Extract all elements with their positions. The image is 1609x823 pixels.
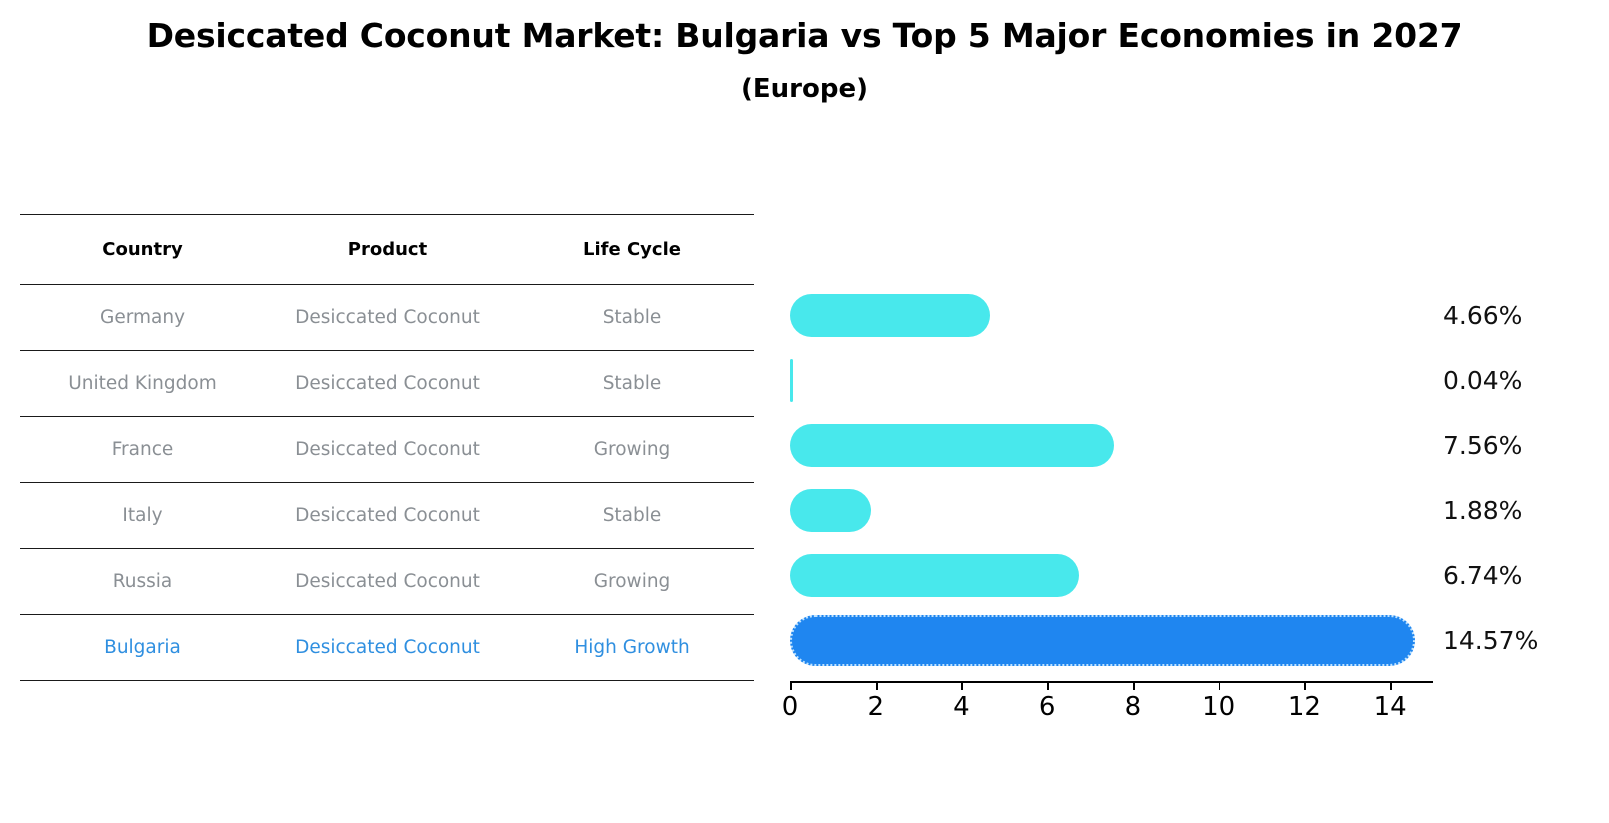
table-row: United Kingdom Desiccated Coconut Stable <box>20 351 754 417</box>
x-tick-label: 10 <box>1202 692 1235 722</box>
bar[interactable] <box>790 489 871 532</box>
column-header-life-cycle: Life Cycle <box>510 215 754 285</box>
table-row: France Desiccated Coconut Growing <box>20 417 754 483</box>
x-tick-mark <box>790 681 792 690</box>
column-header-product: Product <box>265 215 510 285</box>
bar-value-label: 6.74% <box>1443 561 1522 590</box>
x-tick-mark <box>1219 681 1221 690</box>
cell-country: Germany <box>20 285 265 351</box>
x-tick-mark <box>961 681 963 690</box>
cell-country: Italy <box>20 483 265 549</box>
page-subtitle: (Europe) <box>0 66 1609 112</box>
x-tick-mark <box>876 681 878 690</box>
bar[interactable] <box>790 359 793 402</box>
country-table-panel: Country Product Life Cycle Germany Desic… <box>20 214 754 681</box>
bar-value-label: 1.88% <box>1443 496 1522 525</box>
cell-product: Desiccated Coconut <box>265 483 510 549</box>
cell-life-cycle: Stable <box>510 483 754 549</box>
cell-product: Desiccated Coconut <box>265 615 510 681</box>
x-axis-line <box>790 681 1433 683</box>
table-row: Russia Desiccated Coconut Growing <box>20 549 754 615</box>
cell-product: Desiccated Coconut <box>265 351 510 417</box>
bar[interactable] <box>790 424 1114 467</box>
cell-country: Russia <box>20 549 265 615</box>
x-tick-label: 2 <box>867 692 884 722</box>
bar[interactable] <box>790 294 990 337</box>
cell-country: United Kingdom <box>20 351 265 417</box>
cell-life-cycle: Growing <box>510 549 754 615</box>
x-tick-mark <box>1133 681 1135 690</box>
bar-value-label: 14.57% <box>1443 626 1538 655</box>
table-row: Italy Desiccated Coconut Stable <box>20 483 754 549</box>
x-tick-label: 4 <box>953 692 970 722</box>
x-tick-label: 12 <box>1288 692 1321 722</box>
bar-highlighted[interactable] <box>790 615 1415 666</box>
x-tick-mark <box>1304 681 1306 690</box>
x-tick-mark <box>1390 681 1392 690</box>
title-block: Desiccated Coconut Market: Bulgaria vs T… <box>0 12 1609 112</box>
x-tick-label: 8 <box>1125 692 1142 722</box>
x-tick-label: 14 <box>1374 692 1407 722</box>
cell-product: Desiccated Coconut <box>265 417 510 483</box>
country-table: Country Product Life Cycle Germany Desic… <box>20 214 754 681</box>
table-header-row: Country Product Life Cycle <box>20 215 754 285</box>
cell-life-cycle: Growing <box>510 417 754 483</box>
page-title: Desiccated Coconut Market: Bulgaria vs T… <box>0 12 1609 60</box>
bar-value-label: 0.04% <box>1443 366 1522 395</box>
bar[interactable] <box>790 554 1079 597</box>
cell-life-cycle: Stable <box>510 285 754 351</box>
column-header-country: Country <box>20 215 265 285</box>
cell-country: Bulgaria <box>20 615 265 681</box>
x-tick-mark <box>1047 681 1049 690</box>
table-row-highlighted: Bulgaria Desiccated Coconut High Growth <box>20 615 754 681</box>
cell-country: France <box>20 417 265 483</box>
bar-value-label: 7.56% <box>1443 431 1522 460</box>
cell-life-cycle: Stable <box>510 351 754 417</box>
x-tick-label: 6 <box>1039 692 1056 722</box>
table-row: Germany Desiccated Coconut Stable <box>20 285 754 351</box>
cell-product: Desiccated Coconut <box>265 549 510 615</box>
cell-life-cycle: High Growth <box>510 615 754 681</box>
cell-product: Desiccated Coconut <box>265 285 510 351</box>
x-tick-label: 0 <box>782 692 799 722</box>
bar-value-label: 4.66% <box>1443 301 1522 330</box>
